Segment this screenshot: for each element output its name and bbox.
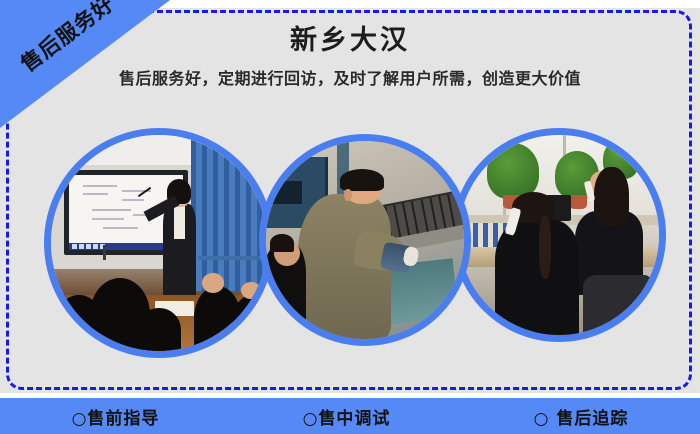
photo-circle-group [0,126,700,388]
photo-office-phone-support [459,135,659,335]
footer-marker-pre-sales: ○ [72,409,88,429]
footer-item-after-sales[interactable]: ○ 售后追踪 [534,404,629,429]
footer-item-pre-sales[interactable]: ○售前指导 [72,404,160,429]
photo-technician-machine [266,141,464,339]
footer-marker-after-sales: ○ [534,409,550,429]
corner-ribbon: 售后服务好 [0,0,175,135]
footer-label-after-sales: 售后追踪 [556,409,628,429]
photo-circle-technician[interactable] [259,134,471,346]
footer-item-in-sales[interactable]: ○售中调试 [303,404,391,429]
footer-label-in-sales: 售中调试 [318,409,390,429]
photo-circle-phone-support[interactable] [452,128,666,342]
footer-label-pre-sales: 售前指导 [87,409,159,429]
service-banner: 新乡大汉 售后服务好，定期进行回访，及时了解用户所需，创造更大价值 售后服务好 … [0,0,700,434]
footer-marker-in-sales: ○ [303,409,319,429]
photo-circle-training[interactable] [44,128,274,358]
photo-training-meeting [51,135,267,351]
footer-bar: ○售前指导 ○售中调试 ○ 售后追踪 [0,398,700,434]
